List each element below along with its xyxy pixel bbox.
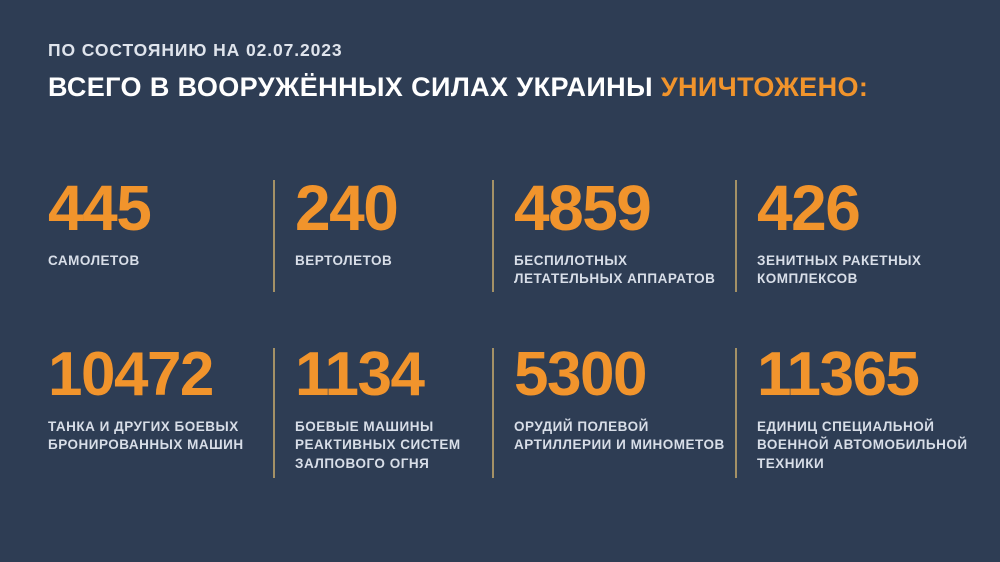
cell-divider [273, 348, 275, 478]
stat-cell-tanks: 10472 ТАНКА И ДРУГИХ БОЕВЫХ БРОНИРОВАННЫ… [0, 346, 273, 514]
stats-row-2: 10472 ТАНКА И ДРУГИХ БОЕВЫХ БРОНИРОВАННЫ… [0, 346, 1000, 514]
stats-row-1: 445 САМОЛЕТОВ 240 ВЕРТОЛЕТОВ 4859 БЕСПИЛ… [0, 178, 1000, 328]
stats-grid: 445 САМОЛЕТОВ 240 ВЕРТОЛЕТОВ 4859 БЕСПИЛ… [0, 178, 1000, 514]
stat-label: ТАНКА И ДРУГИХ БОЕВЫХ БРОНИРОВАННЫХ МАШИ… [48, 418, 273, 454]
stat-label: ЗЕНИТНЫХ РАКЕТНЫХ КОМПЛЕКСОВ [757, 252, 1000, 288]
stat-value: 445 [48, 178, 273, 238]
stat-value: 1134 [295, 346, 492, 404]
stat-cell-uav: 4859 БЕСПИЛОТНЫХ ЛЕТАТЕЛЬНЫХ АППАРАТОВ [492, 178, 735, 328]
cell-divider [492, 180, 494, 292]
stat-cell-aircraft: 445 САМОЛЕТОВ [0, 178, 273, 328]
stat-label: ЕДИНИЦ СПЕЦИАЛЬНОЙ ВОЕННОЙ АВТОМОБИЛЬНОЙ… [757, 418, 1000, 473]
cell-divider [735, 180, 737, 292]
stat-label: ОРУДИЙ ПОЛЕВОЙ АРТИЛЛЕРИИ И МИНОМЕТОВ [514, 418, 735, 454]
stat-cell-mlrs: 1134 БОЕВЫЕ МАШИНЫ РЕАКТИВНЫХ СИСТЕМ ЗАЛ… [273, 346, 492, 514]
page-title-main: ВСЕГО В ВООРУЖЁННЫХ СИЛАХ УКРАИНЫ [48, 72, 653, 102]
stat-value: 4859 [514, 178, 735, 238]
cell-divider [735, 348, 737, 478]
stat-label: ВЕРТОЛЕТОВ [295, 252, 492, 270]
stat-label: САМОЛЕТОВ [48, 252, 273, 270]
page-title: ВСЕГО В ВООРУЖЁННЫХ СИЛАХ УКРАИНЫ УНИЧТО… [48, 72, 968, 103]
stat-value: 10472 [48, 346, 273, 404]
cell-divider [492, 348, 494, 478]
header: ПО СОСТОЯНИЮ НА 02.07.2023 ВСЕГО В ВООРУ… [48, 40, 968, 103]
stat-value: 426 [757, 178, 1000, 238]
stat-label: БОЕВЫЕ МАШИНЫ РЕАКТИВНЫХ СИСТЕМ ЗАЛПОВОГ… [295, 418, 492, 473]
stat-label: БЕСПИЛОТНЫХ ЛЕТАТЕЛЬНЫХ АППАРАТОВ [514, 252, 735, 288]
stat-value: 11365 [757, 346, 1000, 404]
page-title-accent: УНИЧТОЖЕНО: [661, 72, 868, 102]
stat-cell-air-defence: 426 ЗЕНИТНЫХ РАКЕТНЫХ КОМПЛЕКСОВ [735, 178, 1000, 328]
stat-cell-artillery: 5300 ОРУДИЙ ПОЛЕВОЙ АРТИЛЛЕРИИ И МИНОМЕТ… [492, 346, 735, 514]
infographic-board: ПО СОСТОЯНИЮ НА 02.07.2023 ВСЕГО В ВООРУ… [0, 0, 1000, 562]
date-line: ПО СОСТОЯНИЮ НА 02.07.2023 [48, 40, 968, 61]
stat-cell-helicopters: 240 ВЕРТОЛЕТОВ [273, 178, 492, 328]
stat-value: 240 [295, 178, 492, 238]
cell-divider [273, 180, 275, 292]
stat-cell-military-vehicles: 11365 ЕДИНИЦ СПЕЦИАЛЬНОЙ ВОЕННОЙ АВТОМОБ… [735, 346, 1000, 514]
stat-value: 5300 [514, 346, 735, 404]
